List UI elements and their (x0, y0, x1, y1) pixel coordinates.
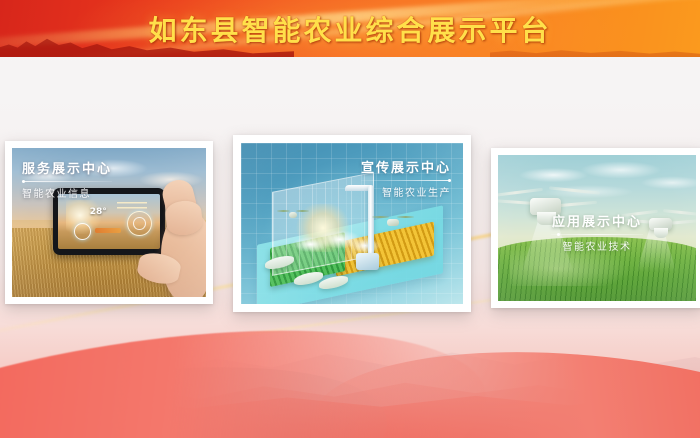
card-service-subtitle: 智能农业信息 (22, 185, 112, 200)
lamp-base (356, 253, 378, 271)
card-publicity-art: 宣传展示中心 智能农业生产 (241, 143, 463, 304)
drone-rotor (296, 210, 309, 212)
card-service-title: 服务展示中心 (22, 158, 112, 177)
hud-status-chip (95, 228, 121, 233)
card-application-title: 应用展示中心 (498, 211, 696, 230)
card-publicity-title: 宣传展示中心 (361, 157, 451, 176)
hand (136, 178, 206, 297)
card-application-divider (551, 234, 643, 235)
hud-temperature-readout: 28° (90, 207, 107, 217)
card-publicity-display-center[interactable]: 宣传展示中心 智能农业生产 (233, 135, 471, 312)
drone-icon-right (374, 211, 412, 232)
divider-dot (557, 233, 560, 236)
drone-body (387, 219, 398, 226)
hud-ring-left-icon (74, 223, 91, 240)
card-service-caption: 服务展示中心 智能农业信息 (22, 158, 112, 200)
card-publicity-subtitle: 智能农业生产 (361, 184, 451, 199)
card-publicity-divider (361, 180, 451, 181)
card-service-display-center[interactable]: 28° 服务展示中心 智能农业信息 (5, 141, 213, 304)
card-service-art: 28° 服务展示中心 智能农业信息 (12, 148, 206, 297)
card-application-caption: 应用展示中心 智能农业技术 (498, 211, 696, 253)
header-banner: 如东县智能农业综合展示平台 (0, 0, 700, 57)
drone-blade (498, 188, 542, 197)
drone-icon-left (279, 206, 308, 222)
drone-rotor (372, 216, 389, 218)
page-title: 如东县智能农业综合展示平台 (0, 0, 700, 57)
page-stage: 如东县智能农业综合展示平台 28° (0, 0, 700, 438)
card-application-subtitle: 智能农业技术 (498, 238, 696, 253)
card-application-art: 应用展示中心 智能农业技术 (498, 155, 696, 301)
drone-rotor (277, 210, 290, 212)
divider-dot (448, 179, 451, 182)
drone-rotor (397, 216, 414, 218)
drone-body (289, 212, 298, 217)
card-publicity-caption: 宣传展示中心 智能农业生产 (361, 157, 451, 199)
card-application-display-center[interactable]: 应用展示中心 智能农业技术 (491, 148, 700, 308)
card-service-divider (22, 181, 112, 182)
divider-dot (22, 180, 25, 183)
